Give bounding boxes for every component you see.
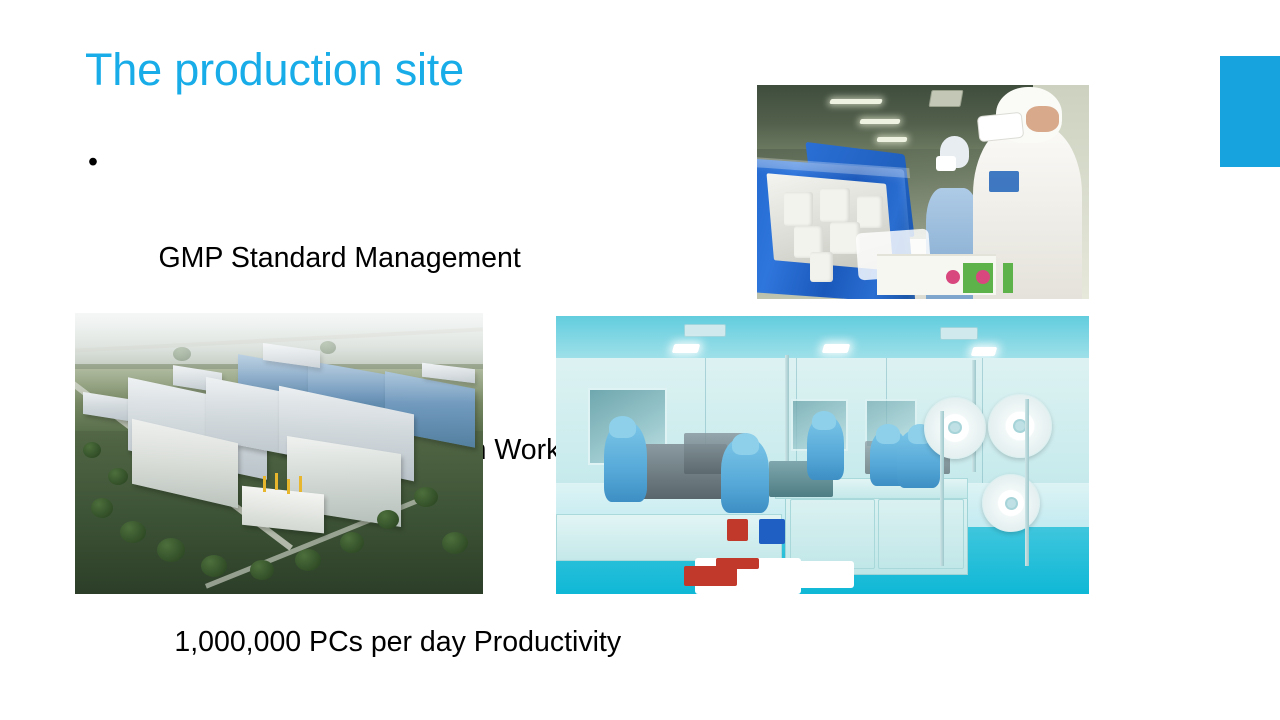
list-item: • GMP Standard Management bbox=[80, 138, 720, 330]
cleanroom-photo: Cleanroom workshop with staff in blue pr… bbox=[556, 316, 1089, 594]
list-item-label: 1,000,000 PCs per day Productivity bbox=[159, 626, 622, 658]
list-item-label: GMP Standard Management bbox=[159, 242, 521, 274]
bullet-dot-icon: • bbox=[88, 138, 98, 186]
presentation-slide: The production site • GMP Standard Manag… bbox=[0, 0, 1280, 720]
coat-logo-icon bbox=[989, 171, 1019, 192]
packaging-line-photo: Workers in white coats, caps and face ma… bbox=[757, 85, 1089, 299]
accent-rectangle bbox=[1220, 56, 1280, 167]
factory-aerial-photo: Aerial rendering of an industrial factor… bbox=[75, 313, 483, 594]
page-title: The production site bbox=[85, 41, 464, 99]
